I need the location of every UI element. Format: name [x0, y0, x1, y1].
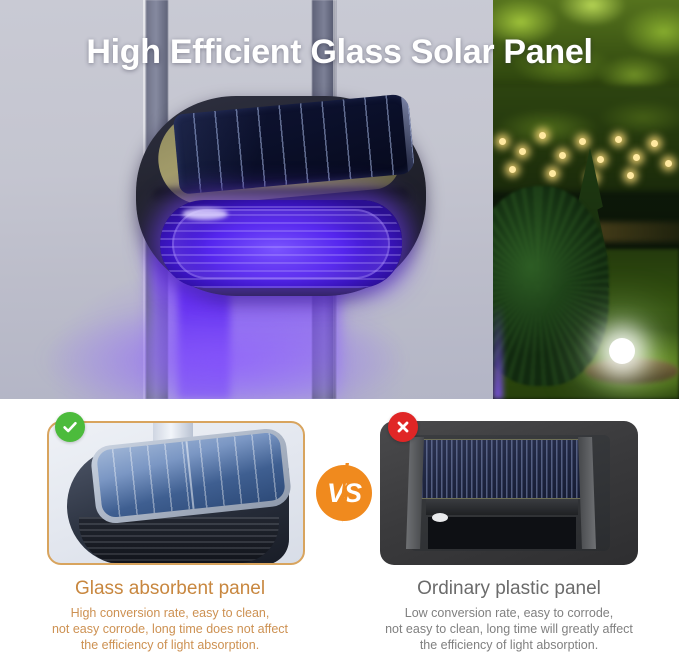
glass-panel-title: Glass absorbent panel — [0, 577, 340, 601]
garden-ground-light — [609, 338, 635, 364]
plastic-panel-cell-lines — [421, 440, 585, 498]
glass-panel-card — [47, 421, 305, 565]
vs-badge: VS — [316, 465, 372, 521]
photo-seam-glow — [493, 303, 503, 399]
evergreen-bush — [493, 186, 609, 386]
glass-lamp-ribbed-base — [79, 517, 279, 563]
check-circle-icon — [55, 412, 85, 442]
led-diffuser-glow — [160, 200, 402, 288]
page-title: High Efficient Glass Solar Panel — [0, 32, 679, 72]
plastic-solar-panel-surface — [420, 439, 586, 499]
plastic-lamp-midbar — [426, 499, 578, 515]
plastic-lamp-indicator — [432, 513, 448, 522]
mulch-bed — [585, 358, 679, 384]
product-marketing-image: High Efficient Glass Solar Panel — [0, 0, 679, 655]
comparison-section: VS Glass absorb — [0, 399, 679, 655]
glass-panel-caption: Glass absorbent panel High conversion ra… — [0, 577, 340, 653]
purple-glow-pool — [0, 300, 493, 399]
plastic-panel-card — [380, 421, 638, 565]
glass-panel-card-frame — [47, 421, 305, 565]
plastic-lamp-lower-body — [428, 517, 576, 549]
hero-section: High Efficient Glass Solar Panel — [0, 0, 679, 399]
plastic-panel-card-frame — [380, 421, 638, 565]
plastic-panel-description: Low conversion rate, easy to corrode, no… — [339, 605, 679, 653]
led-hotspot — [182, 208, 228, 220]
x-circle-icon — [388, 412, 418, 442]
glass-panel-description: High conversion rate, easy to clean, not… — [0, 605, 340, 653]
solar-lamp-fixture — [136, 96, 426, 296]
plastic-panel-title: Ordinary plastic panel — [339, 577, 679, 601]
plastic-panel-caption: Ordinary plastic panel Low conversion ra… — [339, 577, 679, 653]
